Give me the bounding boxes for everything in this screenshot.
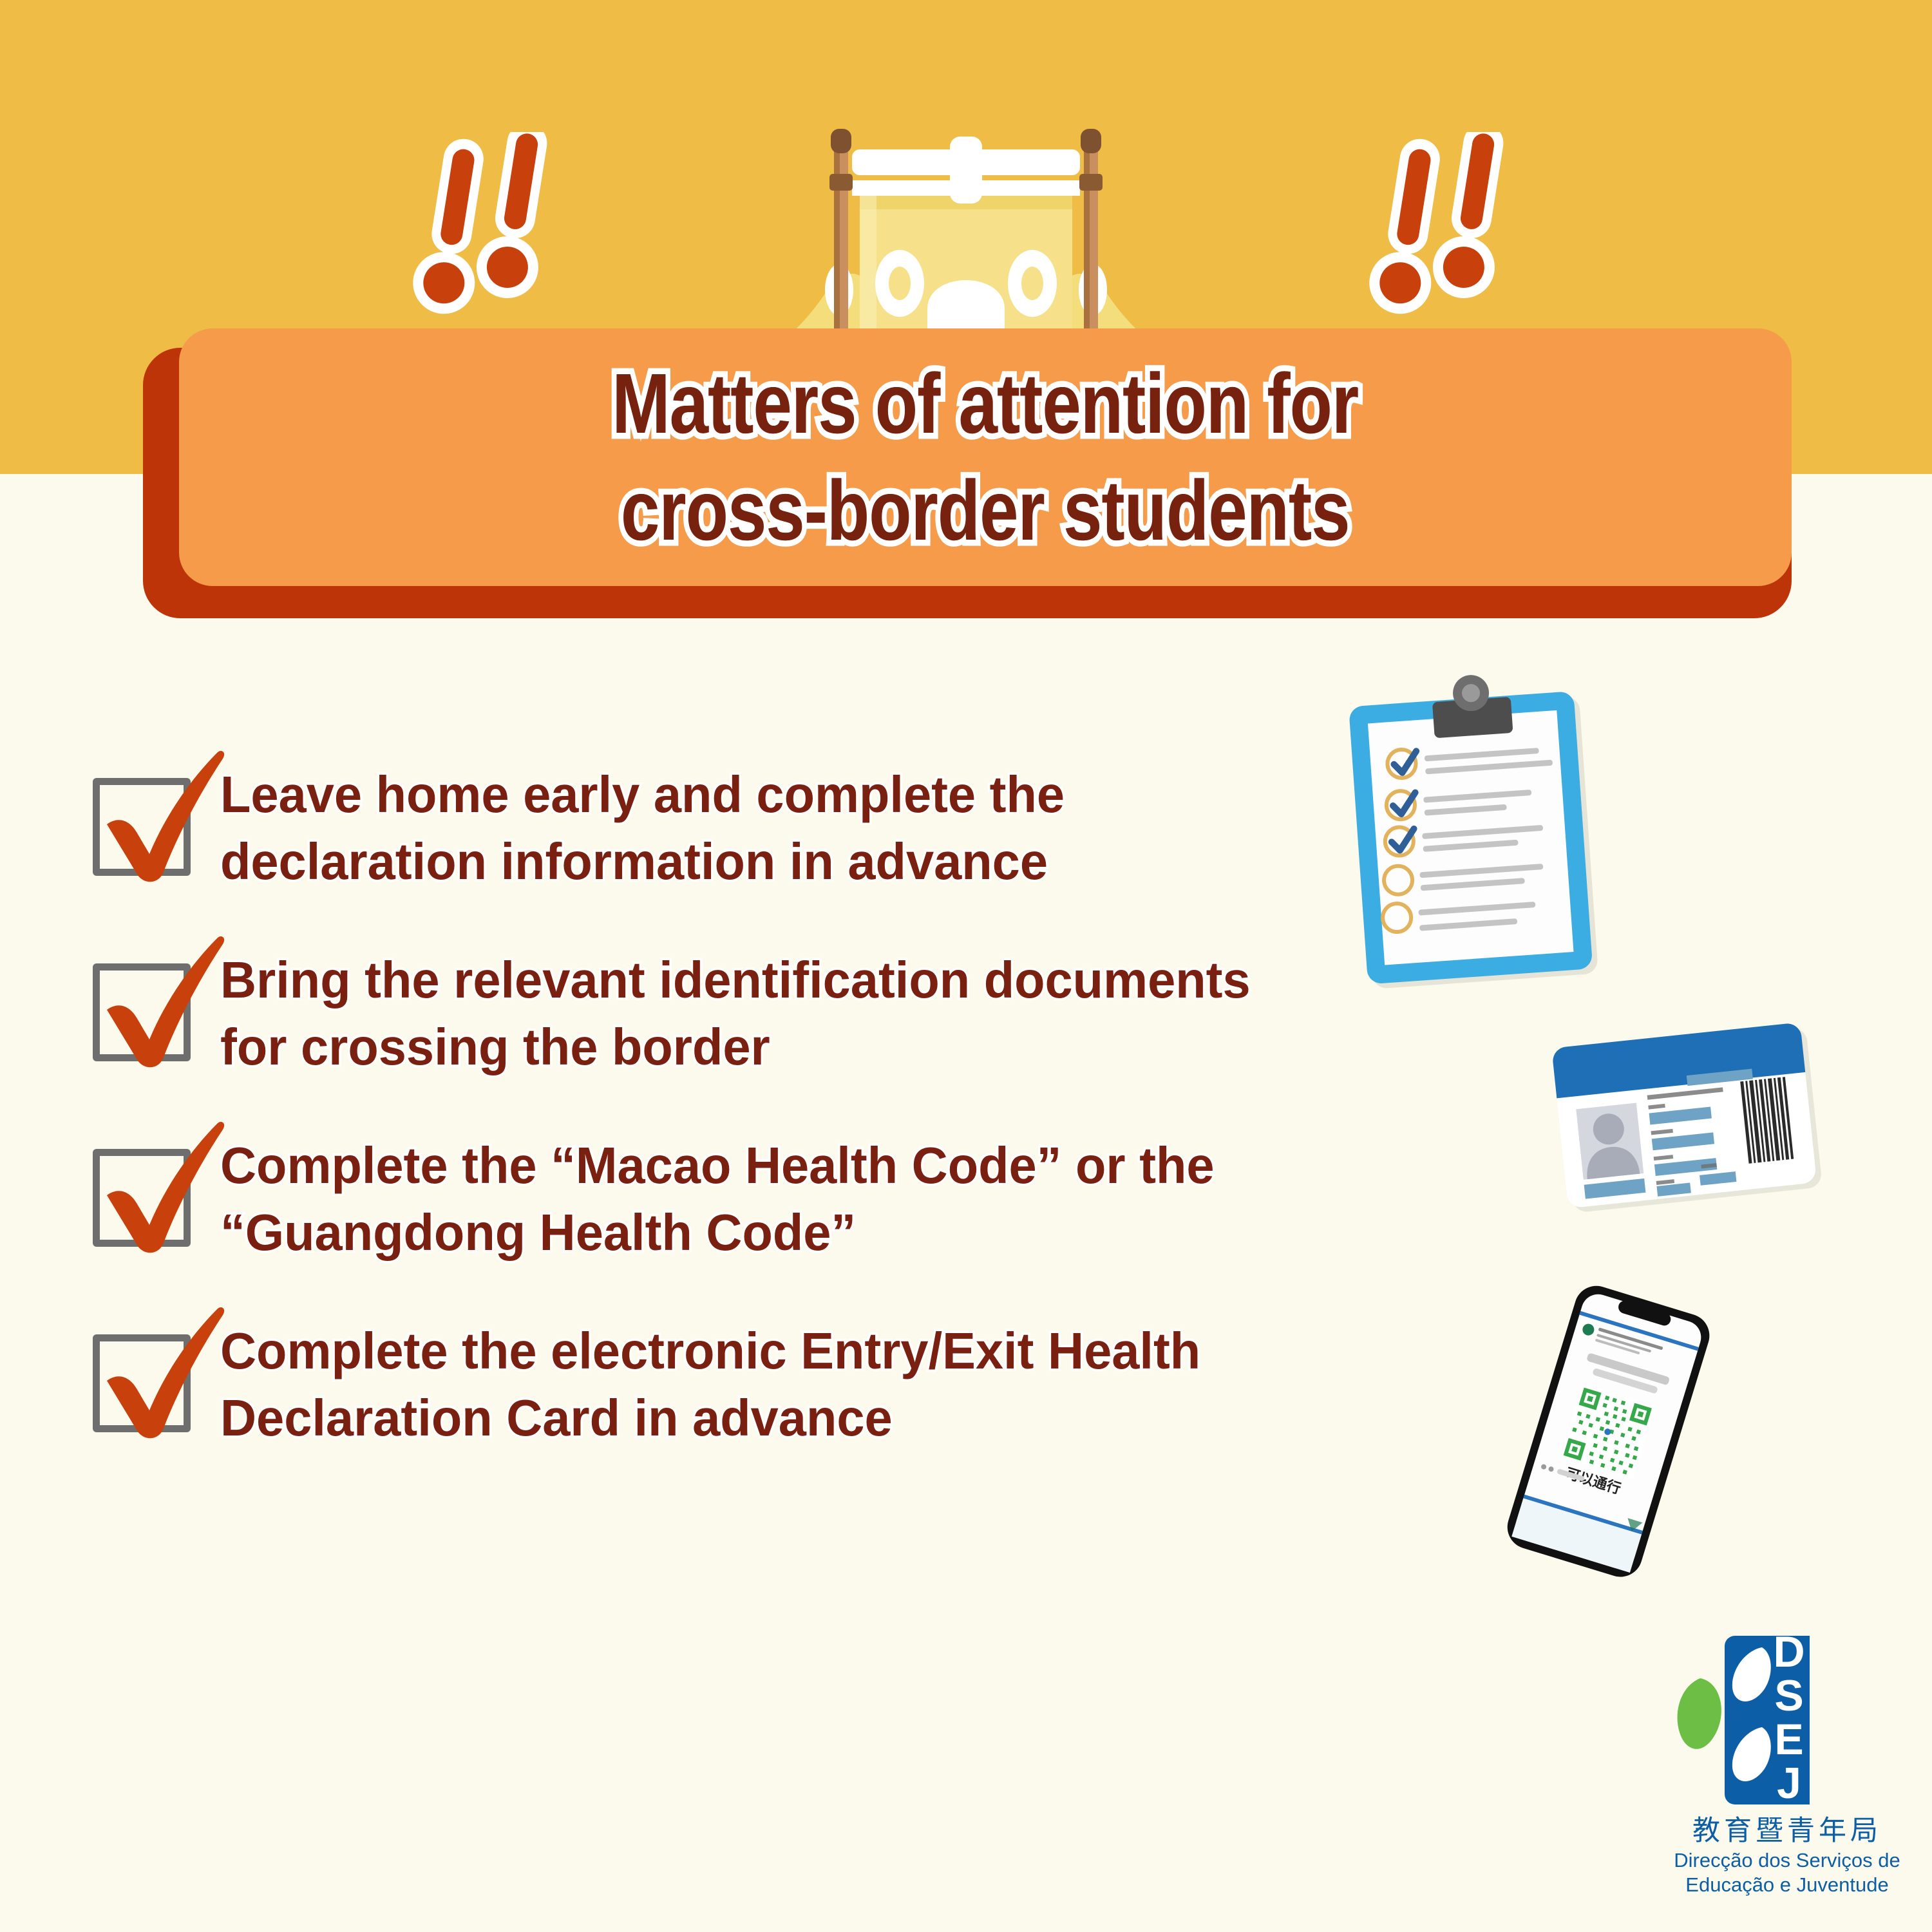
check-mark-icon: [84, 1303, 232, 1442]
clipboard-checklist-icon: [1338, 663, 1616, 1001]
double-exclamation-icon-right: [1368, 132, 1529, 319]
page-title: Matters of attention for cross-border st…: [324, 350, 1646, 565]
poster-canvas: Matters of attention for cross-border st…: [0, 0, 1932, 1932]
checkbox-checked[interactable]: [84, 1303, 232, 1442]
svg-text:J: J: [1777, 1759, 1801, 1808]
check-mark-icon: [84, 1118, 232, 1256]
check-mark-icon: [84, 933, 232, 1071]
mobile-health-code-icon: 可以通行: [1468, 1275, 1726, 1665]
dsej-logo: D S E J 教育暨青年局 Direcção dos Serviços de …: [1649, 1636, 1926, 1919]
svg-text:D: D: [1773, 1636, 1804, 1676]
checklist-item-label: Leave home early and complete the declar…: [220, 761, 1065, 895]
title-banner: Matters of attention for cross-border st…: [179, 328, 1792, 586]
double-exclamation-icon-left: [412, 132, 573, 319]
checklist-item-label: Complete the “Macao Health Code” or the …: [220, 1132, 1215, 1266]
logo-name-cn: 教育暨青年局: [1649, 1808, 1926, 1848]
svg-text:S: S: [1774, 1671, 1803, 1720]
checklist-item-leave-home-early[interactable]: Leave home early and complete the declar…: [0, 747, 1932, 895]
checkbox-checked[interactable]: [84, 747, 232, 885]
checklist-item-label: Complete the electronic Entry/Exit Healt…: [220, 1318, 1200, 1452]
svg-text:E: E: [1774, 1715, 1803, 1764]
logo-name-pt: Direcção dos Serviços de Educação e Juve…: [1649, 1848, 1926, 1897]
identification-card-icon: [1544, 1016, 1835, 1227]
check-mark-icon: [84, 747, 232, 885]
checklist-item-label: Bring the relevant identification docume…: [220, 947, 1251, 1081]
checkbox-checked[interactable]: [84, 1118, 232, 1256]
checkbox-checked[interactable]: [84, 933, 232, 1071]
